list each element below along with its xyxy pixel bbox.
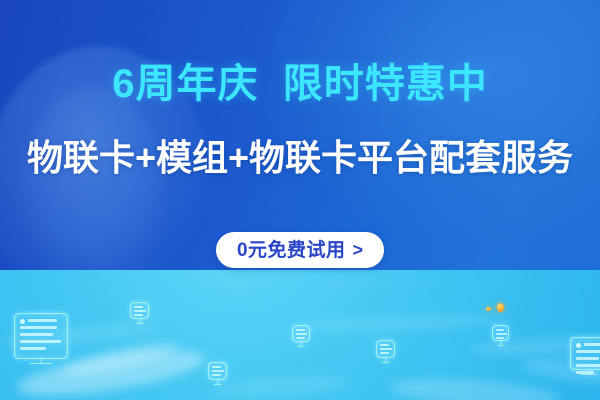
node-stand (382, 362, 390, 363)
node-content-bar (134, 314, 143, 316)
node-stand (214, 384, 222, 385)
node-content-bar (576, 364, 600, 367)
node-content-bar (380, 348, 392, 350)
sky-glow (252, 0, 600, 248)
free-trial-button[interactable]: 0元免费试用 > (216, 232, 384, 268)
node-content-bar (576, 350, 600, 353)
node-content-bar (496, 337, 504, 339)
network-node-icon-large-left (14, 313, 68, 359)
node-content-bar (212, 366, 221, 368)
headline-primary: 6周年庆 限时特惠中 (0, 61, 600, 107)
node-content-bar (576, 357, 599, 360)
watermark-text: 免费试用物联卡 物联网卡办理流量卡平台配套服务系统搭建 (330, 279, 580, 291)
network-node-icon-small-right-a (292, 325, 310, 342)
node-avatar-dot (576, 343, 581, 348)
network-node-icon-large-right (570, 337, 600, 370)
node-content-bar (380, 344, 389, 346)
chevron-right-icon: > (353, 241, 364, 259)
free-trial-button-label: 0元免费试用 (237, 241, 346, 260)
network-node-icon-small-center (208, 362, 227, 380)
node-content-bar (296, 333, 307, 335)
network-node-icon-small-right-c (492, 325, 509, 341)
node-content-bar (584, 343, 600, 346)
node-content-bar (28, 319, 57, 322)
node-content-bar (496, 329, 504, 331)
promo-banner: 免费试用物联卡 物联网卡办理流量卡平台配套服务系统搭建 6周年庆 限时特惠中 物… (0, 0, 600, 400)
node-content-bar (20, 333, 53, 336)
node-content-bar (212, 370, 224, 372)
node-stand (298, 346, 305, 347)
network-node-icon-small-right-b (376, 340, 395, 358)
node-content-bar (20, 340, 61, 343)
node-content-bar (296, 329, 305, 331)
node-stand (136, 323, 144, 324)
map-pin-marker-small (486, 307, 491, 311)
node-content-bar (380, 352, 389, 354)
node-avatar-dot (20, 319, 25, 324)
map-pin-marker-large (497, 303, 504, 312)
node-stand (497, 345, 504, 346)
node-content-bar (134, 306, 143, 308)
node-content-bar (296, 337, 305, 339)
node-content-bar (20, 326, 57, 329)
node-content-bar (20, 347, 46, 350)
node-stand (30, 363, 53, 364)
network-node-icon-small-left (130, 302, 149, 319)
headline-secondary: 物联卡+模组+物联卡平台配套服务 (0, 136, 600, 180)
node-content-bar (134, 310, 146, 312)
watermark-line-2: 物联网卡办理流量卡平台配套服务系统搭建 (330, 285, 580, 291)
node-stand (581, 374, 597, 375)
node-content-bar (212, 374, 221, 376)
node-content-bar (496, 333, 507, 335)
